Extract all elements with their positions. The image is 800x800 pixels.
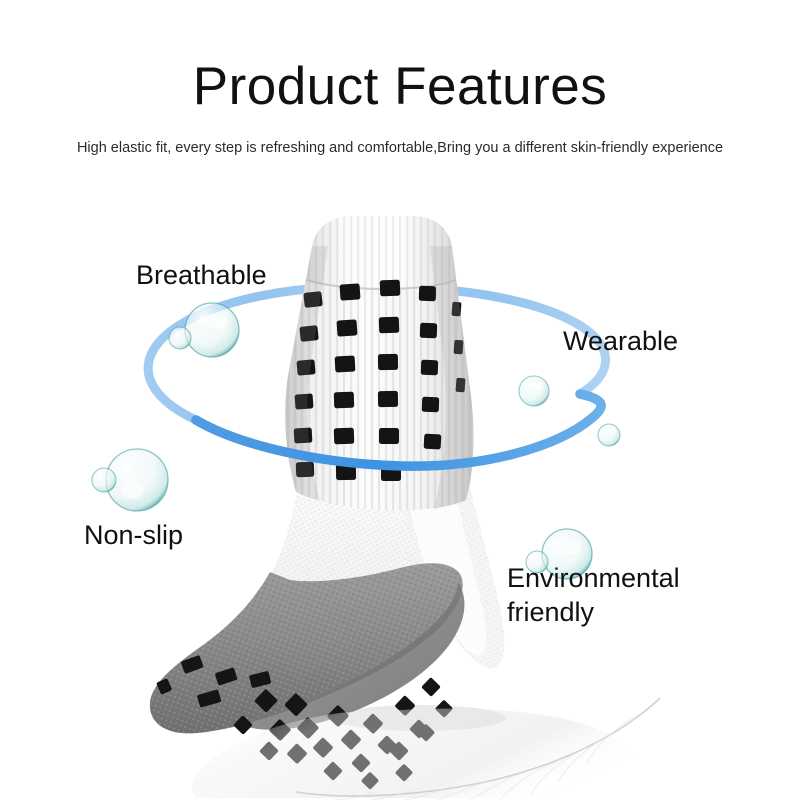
feature-label-wearable: Wearable [563, 324, 678, 358]
bubble-right-lower [598, 424, 620, 446]
header: Product Features High elastic fit, every… [0, 0, 800, 180]
feature-label-breathable: Breathable [136, 258, 267, 292]
sock-graphic [150, 216, 506, 790]
illustration-canvas [0, 180, 800, 800]
product-features-infographic: Product Features High elastic fit, every… [0, 0, 800, 800]
bubble-breathable [169, 303, 239, 357]
feature-label-environmental-friendly: Environmental friendly [507, 561, 680, 629]
feature-label-non-slip: Non-slip [84, 518, 183, 552]
bubble-nonslip [92, 449, 168, 511]
product-illustration [0, 180, 800, 800]
page-subtitle: High elastic fit, every step is refreshi… [0, 138, 800, 158]
page-title: Product Features [0, 56, 800, 118]
bubble-right-upper [519, 376, 549, 406]
